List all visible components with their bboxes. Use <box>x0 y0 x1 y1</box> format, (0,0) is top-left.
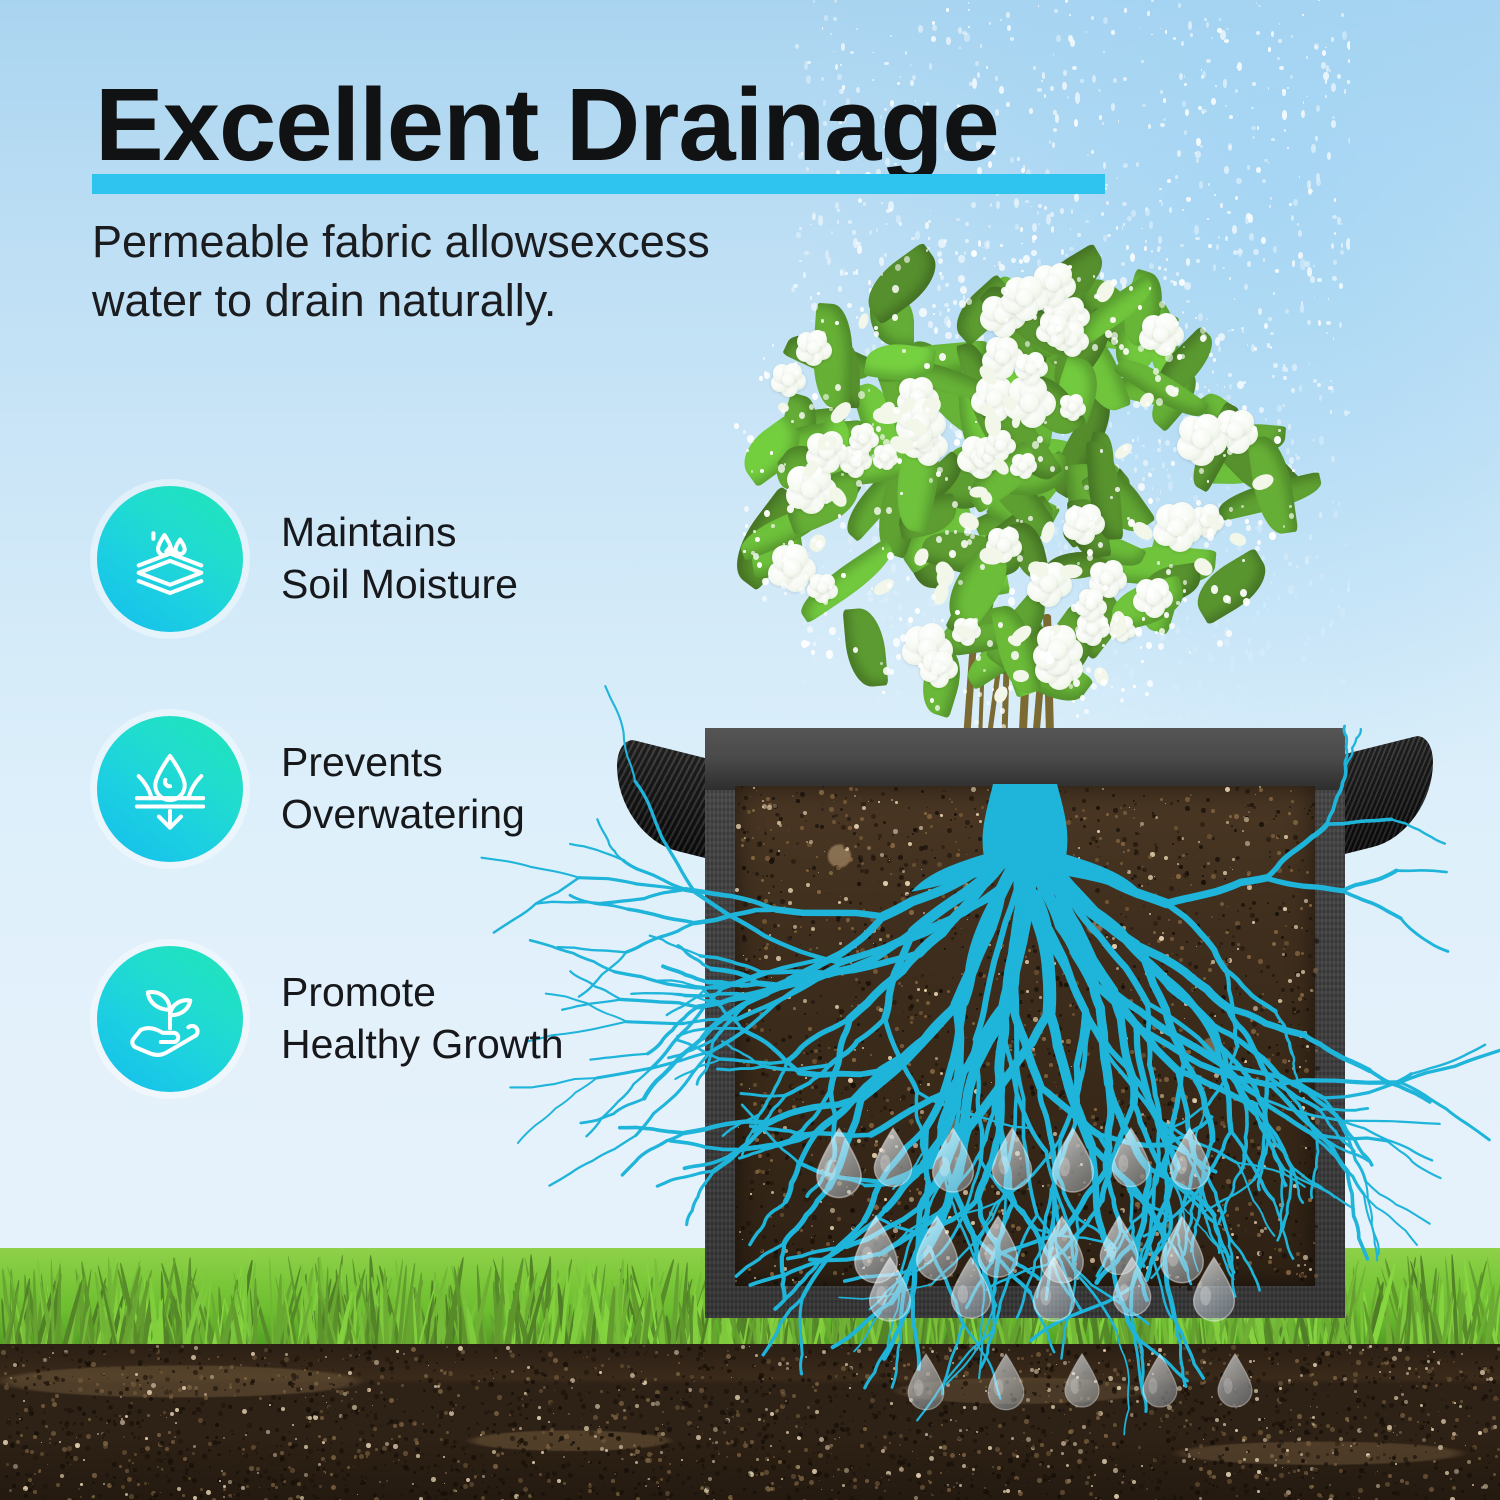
feature-badge <box>97 716 243 862</box>
hand-holding-sprout-icon <box>124 973 216 1065</box>
feature-label-line2: Soil Moisture <box>281 561 518 607</box>
root-system <box>735 758 1315 1288</box>
feature-badge <box>97 946 243 1092</box>
feature-label-line1: Promote <box>281 969 436 1015</box>
feature-label-line2: Overwatering <box>281 791 525 837</box>
layers-water-drop-icon <box>124 513 216 605</box>
feature-label-line2: Healthy Growth <box>281 1021 564 1067</box>
feature-item-prevents-overwatering[interactable]: Prevents Overwatering <box>85 710 645 940</box>
feature-item-promote-healthy-growth[interactable]: Promote Healthy Growth <box>85 940 645 1170</box>
feature-label: Prevents Overwatering <box>281 736 701 840</box>
fabric-grow-bag-cross-section <box>705 728 1345 1318</box>
subtitle-line-2: water to drain naturally. <box>92 275 556 326</box>
feature-badge <box>97 486 243 632</box>
infographic-canvas: Excellent Drainage Permeable fabric allo… <box>0 0 1500 1500</box>
feature-label: Promote Healthy Growth <box>281 966 701 1070</box>
ground-soil <box>0 1344 1500 1500</box>
feature-label-line1: Maintains <box>281 509 456 555</box>
feature-list: Maintains Soil Moisture Prevents Ov <box>85 480 645 1170</box>
page-subtitle: Permeable fabric allowsexcess water to d… <box>92 213 852 330</box>
droplet-through-membrane-icon <box>124 743 216 835</box>
subtitle-line-1: Permeable fabric allowsexcess <box>92 216 710 267</box>
feature-label-line1: Prevents <box>281 739 443 785</box>
title-underline <box>92 174 1105 194</box>
feature-item-maintains-soil-moisture[interactable]: Maintains Soil Moisture <box>85 480 645 710</box>
page-title: Excellent Drainage <box>95 72 999 177</box>
feature-label: Maintains Soil Moisture <box>281 506 701 610</box>
